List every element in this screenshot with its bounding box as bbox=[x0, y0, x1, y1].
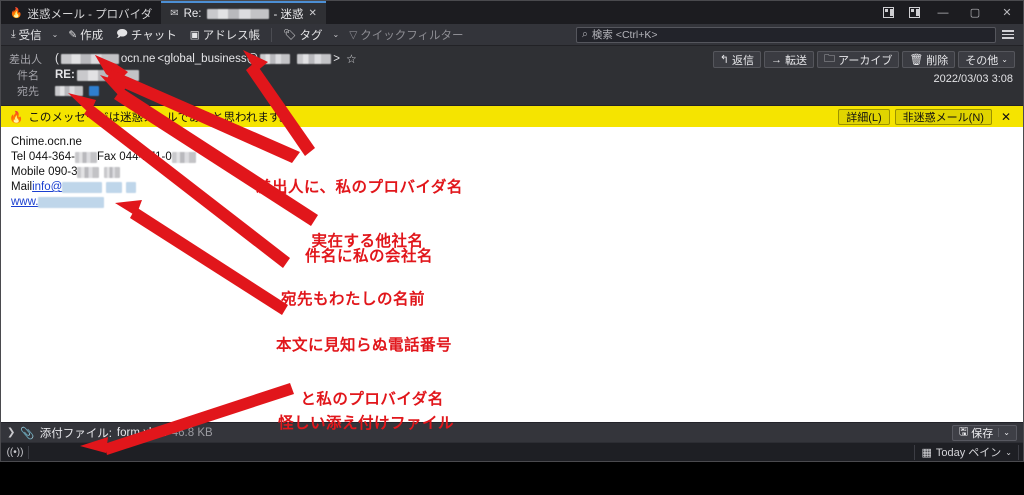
redacted-mobile-1 bbox=[77, 167, 99, 178]
search-input[interactable]: ⌕ 検索 <Ctrl+K> bbox=[576, 27, 996, 43]
message-actions: ↰ 返信 → 転送 🗀 アーカイブ 🗑 削除 その他 ⌄ bbox=[713, 51, 1015, 68]
toolbar-item-label: チャット bbox=[131, 27, 177, 43]
save-icon: 🖫 bbox=[959, 423, 968, 442]
tab-label-prefix: Re: bbox=[184, 8, 202, 20]
status-divider bbox=[28, 446, 29, 459]
grid-icon[interactable] bbox=[901, 1, 927, 24]
redacted-mobile-2 bbox=[104, 167, 120, 178]
pencil-icon: ✎ bbox=[68, 29, 77, 41]
attachment-filename[interactable]: form.xlsm bbox=[117, 427, 167, 439]
title-tab-bar: 🔥 迷惑メール - プロバイダ ✉ Re: - 迷惑 ✕ — ▢ ✕ bbox=[1, 1, 1023, 24]
redacted-fax bbox=[172, 152, 196, 163]
redacted-phone-1 bbox=[75, 152, 97, 163]
to-label: 宛先 bbox=[9, 83, 55, 99]
status-bar: ((•)) ▦ Today ペイン ⌄ bbox=[1, 442, 1023, 461]
chevron-down-icon: ⌄ bbox=[1001, 55, 1008, 64]
body-line: www. bbox=[11, 195, 1013, 210]
body-text: Fax 044-271-0 bbox=[97, 150, 172, 165]
redacted-subject bbox=[77, 70, 139, 81]
chevron-down-icon: ⌄ bbox=[1005, 448, 1012, 457]
junk-actions: 詳細(L) 非迷惑メール(N) ✕ bbox=[838, 109, 1015, 125]
get-messages-icon: ⤓ bbox=[11, 28, 16, 41]
forward-button[interactable]: → 転送 bbox=[764, 51, 814, 68]
chevron-down-icon[interactable]: ⌄ bbox=[998, 428, 1010, 437]
from-value[interactable]: ( ocn.ne <global_business@ > ☆ bbox=[55, 52, 357, 66]
paperclip-icon: 📎 bbox=[20, 426, 34, 440]
www-link[interactable]: www. bbox=[11, 195, 38, 210]
thunderbird-window: 🔥 迷惑メール - プロバイダ ✉ Re: - 迷惑 ✕ — ▢ ✕ bbox=[0, 0, 1024, 462]
tab-junk-provider[interactable]: 🔥 迷惑メール - プロバイダ bbox=[1, 1, 161, 24]
action-label: 削除 bbox=[926, 52, 948, 68]
action-label: その他 bbox=[965, 52, 998, 68]
from-mid: ocn.ne bbox=[121, 53, 156, 65]
reply-icon: ↰ bbox=[720, 53, 729, 66]
not-junk-button[interactable]: 非迷惑メール(N) bbox=[895, 109, 992, 125]
attachment-bar: ❯ 📎 添付ファイル: form.xlsm 46.8 KB 🖫 保存 ⌄ bbox=[1, 422, 1023, 442]
more-button[interactable]: その他 ⌄ bbox=[958, 51, 1015, 68]
flame-icon: 🔥 bbox=[10, 9, 22, 19]
anno-line-1: 差出人に、私のプロバイダ名 bbox=[256, 178, 463, 196]
anno-attachment: 怪しい添え付けファイル bbox=[278, 378, 454, 468]
filter-icon: ▽ bbox=[349, 29, 357, 41]
star-icon[interactable]: ☆ bbox=[346, 52, 357, 66]
action-label: 返信 bbox=[732, 52, 754, 68]
from-prefix: ( bbox=[55, 53, 59, 65]
toolbar-item-label: クイックフィルター bbox=[360, 27, 463, 43]
toolbar-tag[interactable]: 🏷 タグ bbox=[277, 25, 328, 45]
envelope-icon: ✉ bbox=[170, 9, 178, 19]
address-book-icon: ▣ bbox=[190, 29, 200, 41]
message-body: Chime.ocn.ne Tel 044-364- Fax 044-271-0 … bbox=[1, 127, 1023, 434]
redacted-from-name bbox=[61, 54, 119, 64]
maximize-button[interactable]: ▢ bbox=[959, 1, 991, 24]
save-label: 保存 bbox=[971, 425, 993, 441]
body-line: Mail info@ bbox=[11, 180, 1013, 195]
search-placeholder: 検索 <Ctrl+K> bbox=[592, 27, 658, 42]
toolbar-address-book[interactable]: ▣ アドレス帳 bbox=[184, 25, 266, 45]
body-text: Tel 044-364- bbox=[11, 150, 75, 165]
toolbar-quick-filter[interactable]: ▽ クイックフィルター bbox=[343, 25, 469, 45]
redacted-recipient-badge bbox=[89, 86, 99, 96]
subject-prefix: RE: bbox=[55, 69, 75, 81]
body-line: Tel 044-364- Fax 044-271-0 bbox=[11, 150, 1013, 165]
redacted-tab-subject bbox=[207, 9, 269, 19]
trash-icon: 🗑 bbox=[909, 53, 923, 66]
anno-line-1: 怪しい添え付けファイル bbox=[278, 414, 454, 432]
toolbar-compose[interactable]: ✎ 作成 bbox=[62, 25, 109, 45]
toolbar-item-label: アドレス帳 bbox=[203, 27, 261, 43]
chevron-right-icon[interactable]: ❯ bbox=[7, 427, 15, 438]
redacted-recipient bbox=[55, 86, 83, 96]
reply-button[interactable]: ↰ 返信 bbox=[713, 51, 761, 68]
from-email-suffix: > bbox=[333, 53, 340, 65]
anno-line-1: 本文に見知らぬ電話番号 bbox=[276, 336, 452, 354]
redacted-mail-domain-2 bbox=[106, 182, 122, 193]
redacted-from-domain-1 bbox=[260, 54, 290, 64]
toolbar-item-label: 受信 bbox=[19, 27, 42, 43]
archive-button[interactable]: 🗀 アーカイブ bbox=[817, 51, 899, 68]
window-controls: — ▢ ✕ bbox=[875, 1, 1023, 24]
toolbar-get-messages[interactable]: ⤓ 受信 bbox=[5, 25, 48, 45]
junk-text: このメッセージは迷惑メールであると思われます。 bbox=[28, 109, 290, 125]
save-attachment-button[interactable]: 🖫 保存 ⌄ bbox=[952, 425, 1017, 441]
today-pane-label: Today ペイン bbox=[936, 444, 1001, 460]
attachment-size: 46.8 KB bbox=[172, 427, 213, 439]
search-icon: ⌕ bbox=[582, 28, 588, 41]
minimize-button[interactable]: — bbox=[927, 1, 959, 24]
chat-icon: 🗩 bbox=[116, 26, 128, 44]
toolbar-item-label: タグ bbox=[299, 27, 322, 43]
tab-message-re[interactable]: ✉ Re: - 迷惑 ✕ bbox=[161, 1, 326, 24]
hamburger-icon[interactable] bbox=[997, 30, 1019, 39]
subject-label: 件名 bbox=[9, 67, 55, 83]
header-row-subject: 件名 RE: bbox=[9, 67, 1015, 83]
calendar-icon: ▦ bbox=[921, 446, 931, 459]
junk-message: 🔥 このメッセージは迷惑メールであると思われます。 bbox=[9, 109, 291, 125]
calendar-icon[interactable] bbox=[875, 1, 901, 24]
close-icon[interactable]: ✕ bbox=[309, 9, 317, 19]
tag-caret-icon[interactable]: ⌄ bbox=[329, 30, 342, 39]
mail-link[interactable]: info@ bbox=[32, 180, 62, 195]
subject-value: RE: bbox=[55, 69, 139, 81]
close-window-button[interactable]: ✕ bbox=[991, 1, 1023, 24]
to-value[interactable] bbox=[55, 86, 99, 96]
message-date: 2022/03/03 3:08 bbox=[933, 73, 1013, 85]
from-email-prefix: <global_business@ bbox=[157, 53, 258, 65]
redacted-from-domain-2 bbox=[297, 54, 331, 64]
get-messages-caret-icon[interactable]: ⌄ bbox=[49, 30, 62, 39]
tag-icon: 🏷 bbox=[283, 28, 296, 41]
action-label: 転送 bbox=[785, 52, 807, 68]
toolbar-divider bbox=[271, 28, 272, 42]
junk-details-button[interactable]: 詳細(L) bbox=[838, 109, 889, 125]
redacted-url bbox=[38, 197, 104, 208]
toolbar-item-label: 作成 bbox=[80, 27, 103, 43]
flame-icon: 🔥 bbox=[9, 110, 23, 124]
forward-icon: → bbox=[771, 54, 782, 66]
junk-mail-bar: 🔥 このメッセージは迷惑メールであると思われます。 詳細(L) 非迷惑メール(N… bbox=[1, 106, 1023, 127]
delete-button[interactable]: 🗑 削除 bbox=[902, 51, 955, 68]
redacted-mail-domain-1 bbox=[62, 182, 102, 193]
body-text: Chime.ocn.ne bbox=[11, 135, 82, 150]
tab-label-suffix: - 迷惑 bbox=[274, 6, 304, 22]
attachment-label: 添付ファイル: bbox=[40, 425, 112, 441]
main-toolbar: ⤓ 受信 ⌄ ✎ 作成 🗩 チャット ▣ アドレス帳 🏷 タグ ⌄ bbox=[1, 24, 1023, 46]
tab-label: 迷惑メール - プロバイダ bbox=[27, 6, 152, 22]
header-row-to: 宛先 bbox=[9, 83, 1015, 99]
archive-icon: 🗀 bbox=[824, 50, 835, 69]
today-pane-button[interactable]: ▦ Today ペイン ⌄ bbox=[914, 445, 1019, 460]
body-text: Mobile 090-3 bbox=[11, 165, 77, 180]
redacted-mail-domain-3 bbox=[126, 182, 136, 193]
action-label: アーカイブ bbox=[838, 52, 892, 68]
body-text: Mail bbox=[11, 180, 32, 195]
screenshot-root: 🔥 迷惑メール - プロバイダ ✉ Re: - 迷惑 ✕ — ▢ ✕ bbox=[0, 0, 1024, 495]
close-icon[interactable]: ✕ bbox=[997, 110, 1015, 124]
message-header: 差出人 ( ocn.ne <global_business@ > ☆ 件名 RE… bbox=[1, 46, 1023, 106]
body-line: Mobile 090-3 bbox=[11, 165, 1013, 180]
body-line: Chime.ocn.ne bbox=[11, 135, 1013, 150]
toolbar-chat[interactable]: 🗩 チャット bbox=[110, 24, 183, 46]
broadcast-icon[interactable]: ((•)) bbox=[5, 445, 25, 460]
from-label: 差出人 bbox=[9, 51, 55, 67]
